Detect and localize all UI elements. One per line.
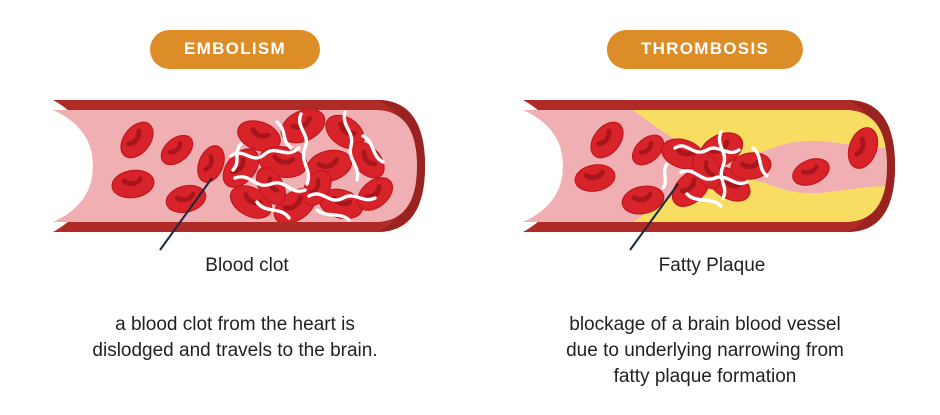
badge-thrombosis: THROMBOSIS <box>607 30 803 69</box>
description-embolism: a blood clot from the heart is dislodged… <box>0 312 470 364</box>
label-fatty-plaque: Fatty Plaque <box>470 255 940 277</box>
label-blood-clot: Blood clot <box>0 255 470 277</box>
description-line: due to underlying narrowing from <box>470 338 940 364</box>
description-thrombosis: blockage of a brain blood vessel due to … <box>470 312 940 390</box>
description-line: a blood clot from the heart is <box>0 312 470 338</box>
panel-thrombosis: THROMBOSIS <box>470 0 940 415</box>
description-line: blockage of a brain blood vessel <box>470 312 940 338</box>
badge-embolism: EMBOLISM <box>150 30 320 69</box>
vessel-illustration-embolism <box>45 92 425 240</box>
description-line: dislodged and travels to the brain. <box>0 338 470 364</box>
panel-embolism: EMBOLISM <box>0 0 470 415</box>
leader-line-blood-clot <box>142 170 222 260</box>
vessel-illustration-thrombosis <box>515 92 895 240</box>
leader-line-fatty-plaque <box>612 178 692 258</box>
description-line: fatty plaque formation <box>470 364 940 390</box>
